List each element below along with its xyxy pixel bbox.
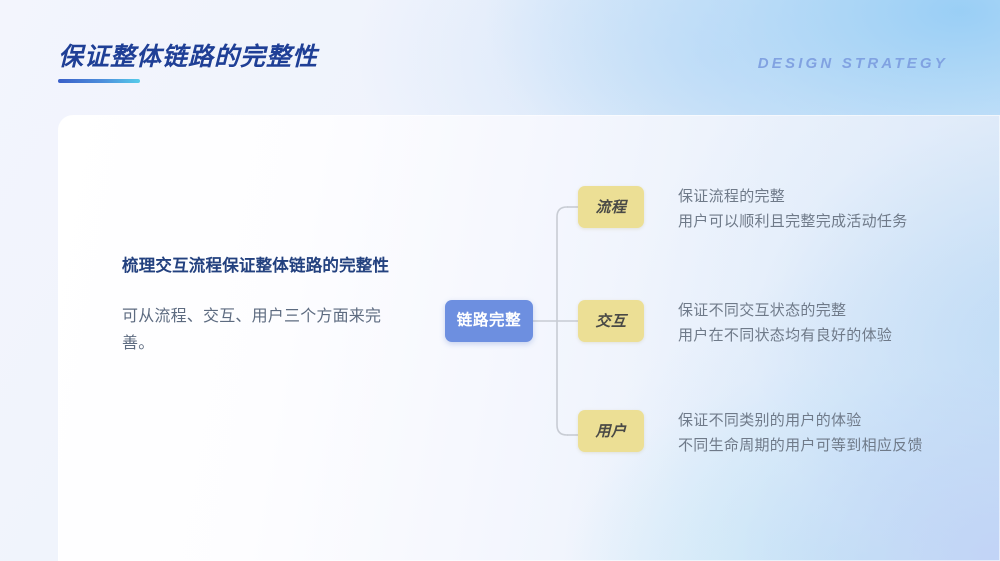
branch-description-line: 用户在不同状态均有良好的体验: [678, 323, 892, 348]
mindmap-root-node-label: 链路完整: [457, 313, 521, 329]
branch-description-line: 保证流程的完整: [678, 184, 908, 209]
mindmap-root-node[interactable]: 链路完整: [445, 300, 533, 342]
slide-header: 保证整体链路的完整性 DESIGN STRATEGY: [0, 0, 1000, 115]
branch-description-line: 不同生命周期的用户可等到相应反馈: [678, 433, 923, 458]
branch-description-yonghu: 保证不同类别的用户的体验 不同生命周期的用户可等到相应反馈: [678, 408, 923, 458]
branch-description-liucheng: 保证流程的完整 用户可以顺利且完整完成活动任务: [678, 184, 908, 234]
branch-chip-yonghu[interactable]: 用户: [578, 410, 644, 452]
branch-description-jiaohu: 保证不同交互状态的完整 用户在不同状态均有良好的体验: [678, 298, 892, 348]
title-underline-accent: [58, 79, 140, 83]
slide-root: 保证整体链路的完整性 DESIGN STRATEGY 梳理交互流程保证整体链路的…: [0, 0, 1000, 561]
branch-chip-label: 用户: [595, 424, 626, 439]
branch-chip-jiaohu[interactable]: 交互: [578, 300, 644, 342]
content-card: 梳理交互流程保证整体链路的完整性 可从流程、交互、用户三个方面来完善。 链路完整: [58, 115, 1000, 561]
branch-description-line: 保证不同类别的用户的体验: [678, 408, 923, 433]
branch-chip-liucheng[interactable]: 流程: [578, 186, 644, 228]
branch-chip-label: 交互: [595, 314, 626, 329]
page-title: 保证整体链路的完整性: [58, 45, 318, 70]
branch-description-line: 用户可以顺利且完整完成活动任务: [678, 209, 908, 234]
page-title-group: 保证整体链路的完整性: [58, 45, 318, 83]
branch-chip-label: 流程: [595, 200, 626, 215]
branch-description-line: 保证不同交互状态的完整: [678, 298, 892, 323]
header-eyebrow-label: DESIGN STRATEGY: [758, 55, 948, 72]
mindmap: 链路完整 流程 保证流程的完整 用户可以顺利且完整完成活动任务 交互 保证不同交…: [58, 115, 1000, 561]
